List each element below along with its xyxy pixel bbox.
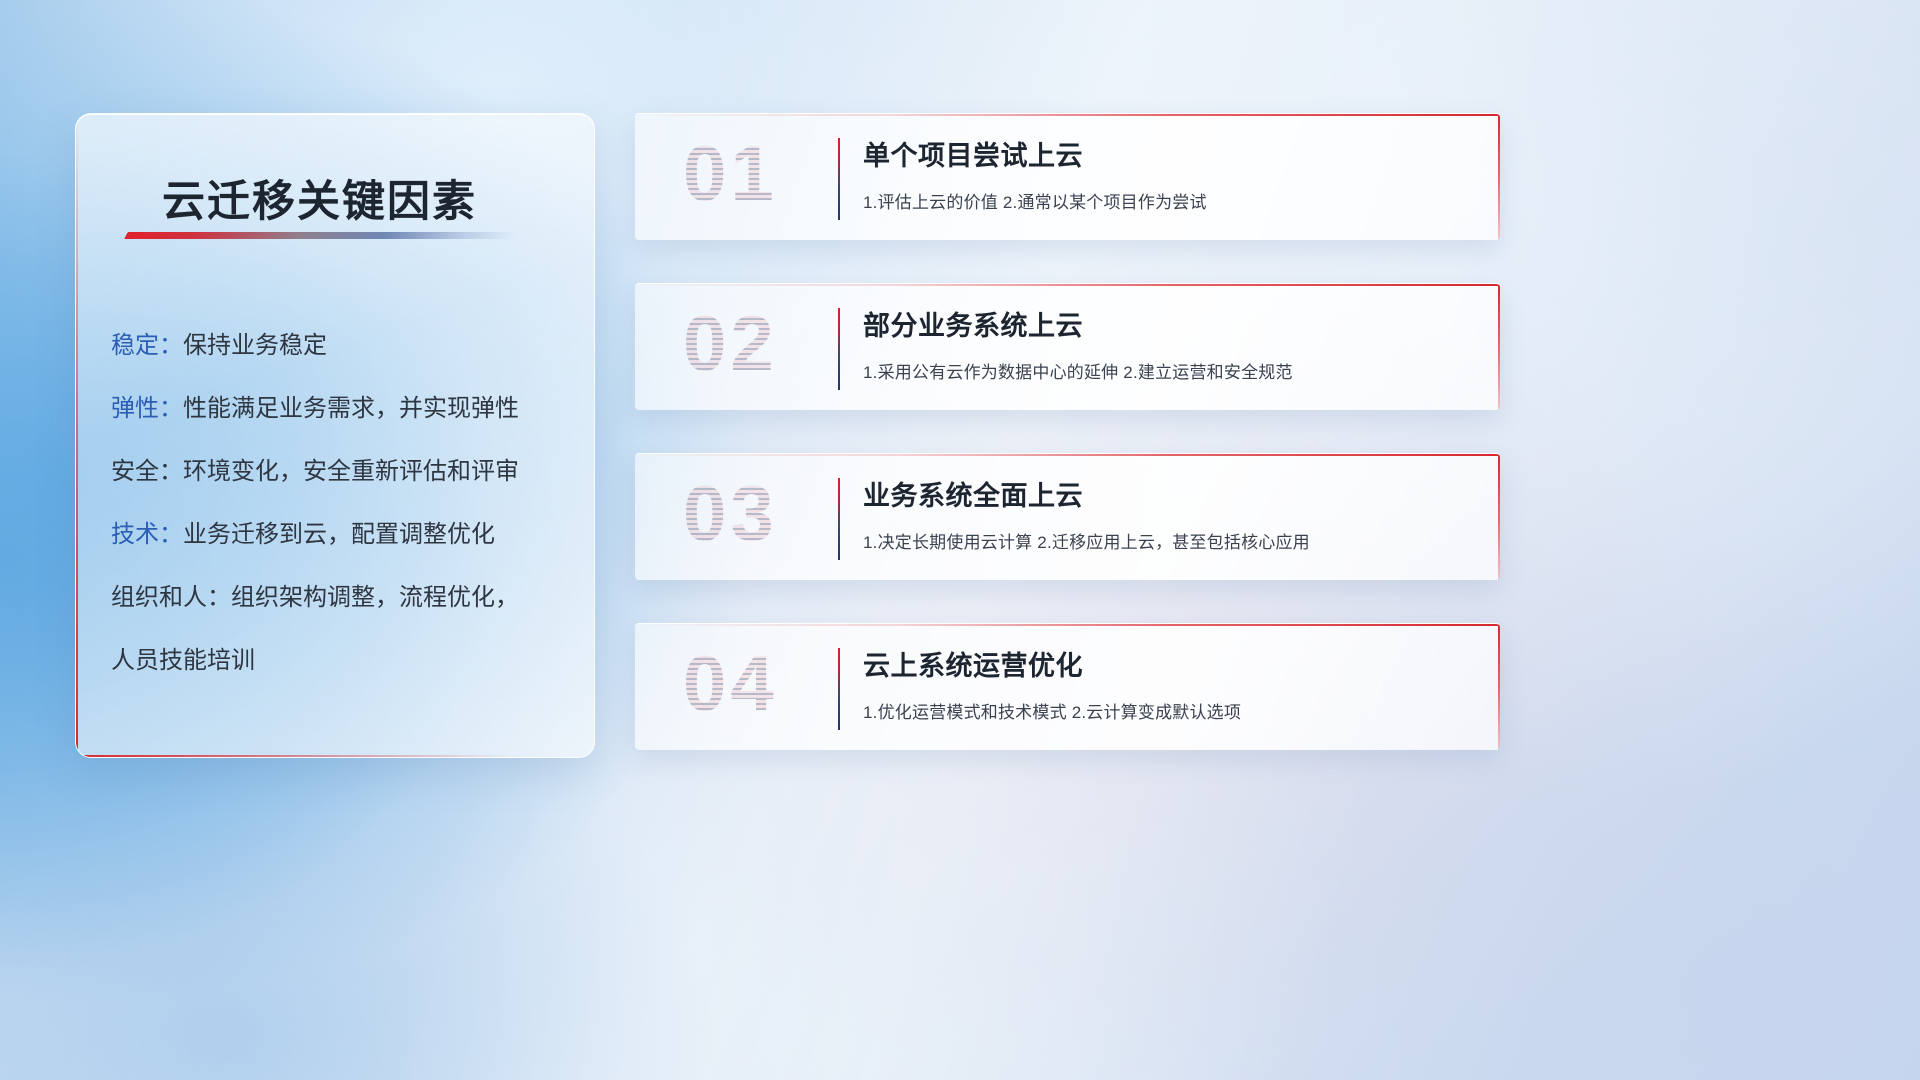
step-card[interactable]: 04 04 云上系统运营优化 1.优化运营模式和技术模式 2.云计算变成默认选项 [635, 623, 1500, 750]
factor-text: 环境变化，安全重新评估和评审 [183, 458, 519, 485]
step-divider-accent [838, 308, 840, 390]
step-description: 1.评估上云的价值 2.通常以某个项目作为尝试 [863, 188, 1470, 213]
factor-item: 安全：环境变化，安全重新评估和评审 [111, 440, 581, 503]
factor-text: 人员技能培训 [111, 647, 255, 674]
factor-list: 稳定：保持业务稳定 弹性：性能满足业务需求，并实现弹性 安全：环境变化，安全重新… [111, 314, 581, 692]
step-body: 业务系统全面上云 1.决定长期使用云计算 2.迁移应用上云，甚至包括核心应用 [863, 476, 1470, 553]
factor-item: 稳定：保持业务稳定 [111, 314, 581, 377]
step-card[interactable]: 03 03 业务系统全面上云 1.决定长期使用云计算 2.迁移应用上云，甚至包括… [635, 453, 1500, 580]
slide-stage: 云迁移关键因素 稳定：保持业务稳定 弹性：性能满足业务需求，并实现弹性 安全：环… [0, 0, 1920, 1080]
factor-item: 弹性：性能满足业务需求，并实现弹性 [111, 377, 581, 440]
factor-item: 组织和人：组织架构调整，流程优化， [111, 566, 581, 629]
factor-item-continuation: 人员技能培训 [111, 629, 581, 692]
step-number: 03 [683, 468, 778, 559]
step-title: 部分业务系统上云 [863, 306, 1470, 346]
step-body: 云上系统运营优化 1.优化运营模式和技术模式 2.云计算变成默认选项 [863, 646, 1470, 723]
step-divider-accent [838, 648, 840, 730]
factor-text: 业务迁移到云，配置调整优化 [183, 521, 495, 548]
key-factors-panel: 云迁移关键因素 稳定：保持业务稳定 弹性：性能满足业务需求，并实现弹性 安全：环… [75, 113, 595, 758]
step-title: 云上系统运营优化 [863, 646, 1470, 686]
step-title: 单个项目尝试上云 [863, 136, 1470, 176]
factor-text: 保持业务稳定 [183, 332, 327, 359]
migration-steps-list: 01 01 单个项目尝试上云 1.评估上云的价值 2.通常以某个项目作为尝试 0… [635, 113, 1500, 793]
factor-label: 组织和人： [111, 584, 231, 611]
panel-title: 云迁移关键因素 [162, 167, 477, 229]
step-title: 业务系统全面上云 [863, 476, 1470, 516]
factor-item: 技术：业务迁移到云，配置调整优化 [111, 503, 581, 566]
title-underline-accent [124, 232, 518, 239]
factor-label: 稳定： [111, 332, 183, 359]
step-body: 单个项目尝试上云 1.评估上云的价值 2.通常以某个项目作为尝试 [863, 136, 1470, 213]
step-card[interactable]: 02 02 部分业务系统上云 1.采用公有云作为数据中心的延伸 2.建立运营和安… [635, 283, 1500, 410]
factor-label: 技术： [111, 521, 183, 548]
step-divider-accent [838, 138, 840, 220]
step-card[interactable]: 01 01 单个项目尝试上云 1.评估上云的价值 2.通常以某个项目作为尝试 [635, 113, 1500, 240]
factor-label: 安全： [111, 458, 183, 485]
factor-text: 性能满足业务需求，并实现弹性 [183, 395, 519, 422]
step-number: 04 [683, 638, 778, 729]
factor-label: 弹性： [111, 395, 183, 422]
step-description: 1.采用公有云作为数据中心的延伸 2.建立运营和安全规范 [863, 358, 1470, 383]
step-number: 02 [683, 298, 778, 389]
factor-text: 组织架构调整，流程优化， [231, 584, 519, 611]
step-description: 1.决定长期使用云计算 2.迁移应用上云，甚至包括核心应用 [863, 528, 1470, 553]
step-body: 部分业务系统上云 1.采用公有云作为数据中心的延伸 2.建立运营和安全规范 [863, 306, 1470, 383]
step-description: 1.优化运营模式和技术模式 2.云计算变成默认选项 [863, 698, 1470, 723]
step-number: 01 [683, 128, 778, 219]
step-divider-accent [838, 478, 840, 560]
